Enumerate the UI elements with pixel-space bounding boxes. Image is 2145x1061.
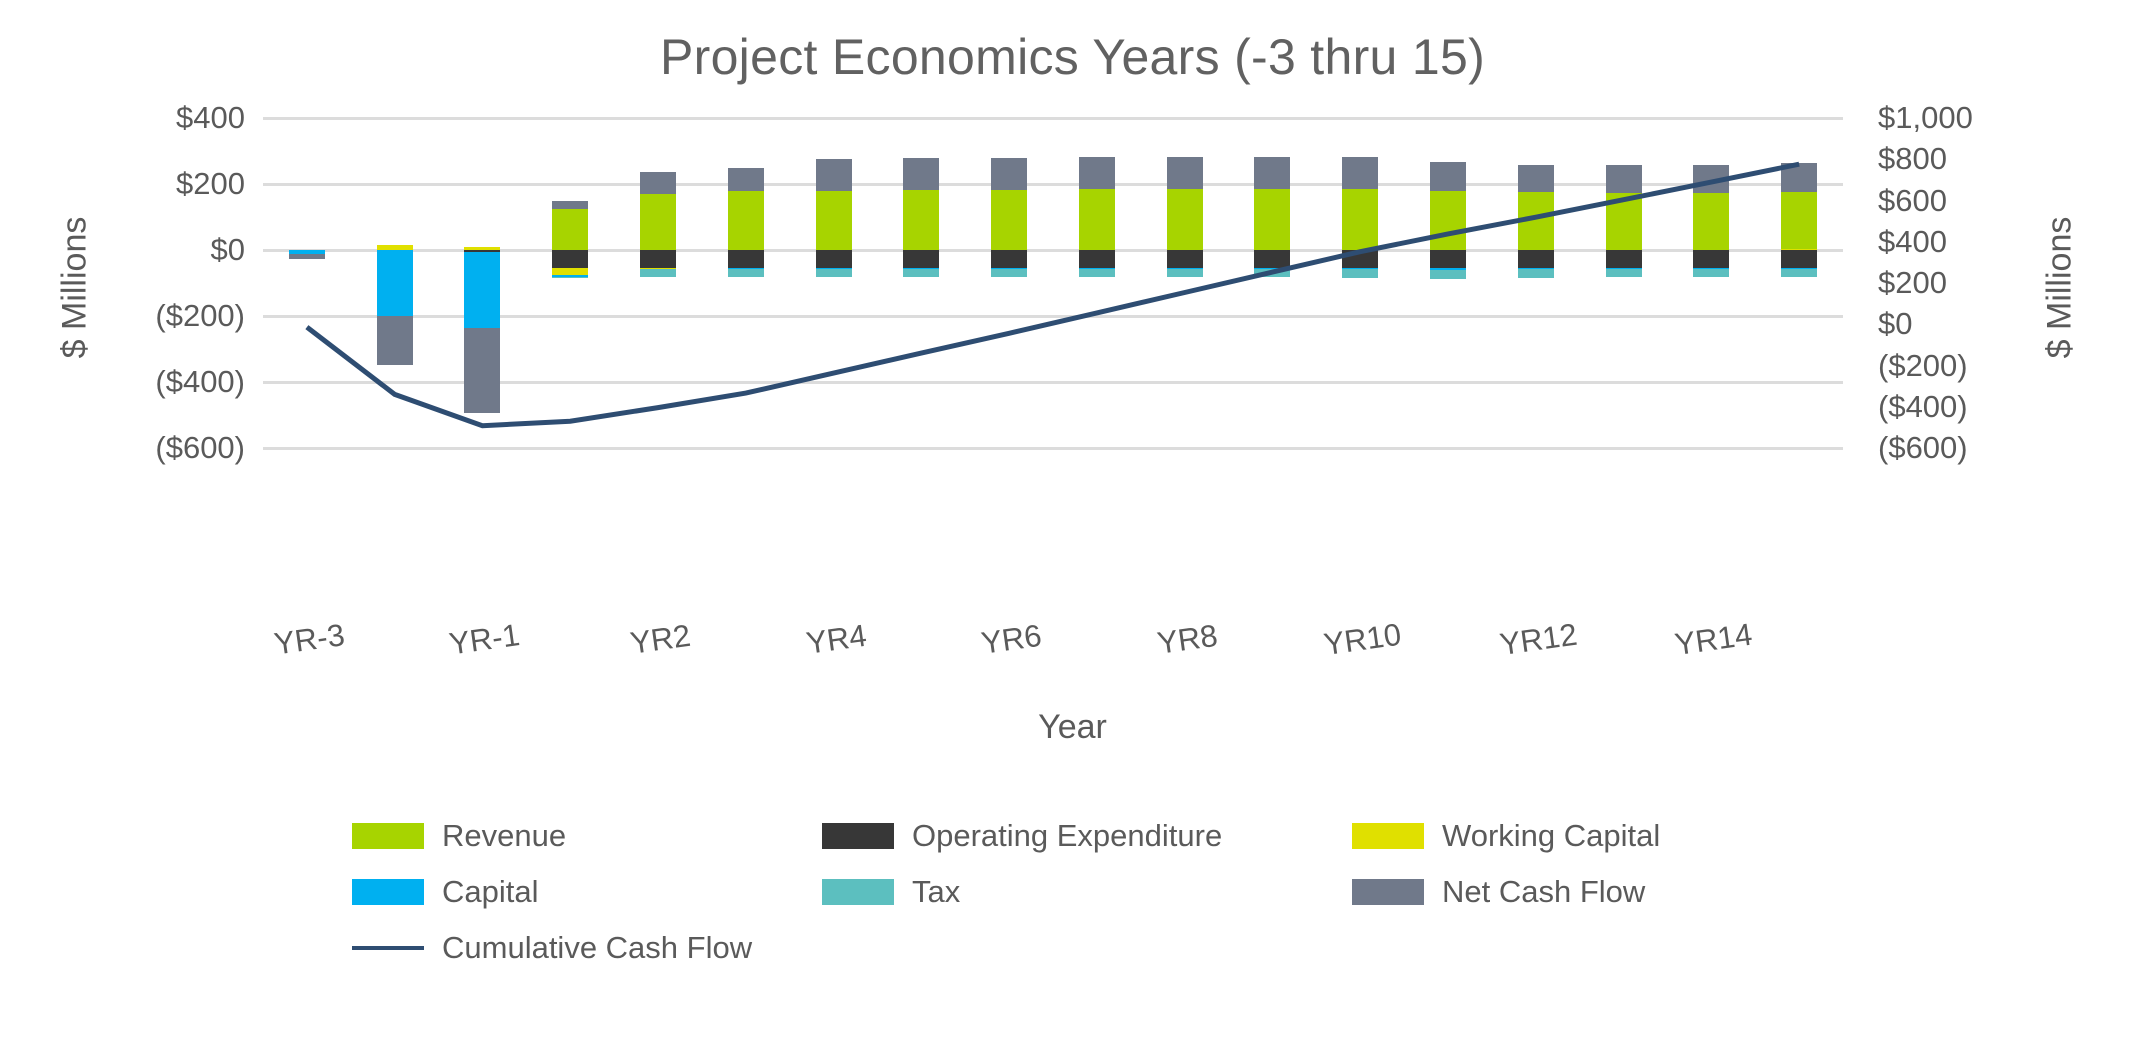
y-axis-right-tick-label: $200 xyxy=(1878,267,1947,298)
legend-label: Cumulative Cash Flow xyxy=(442,932,752,963)
legend-item[interactable]: Capital xyxy=(352,876,539,907)
legend-item[interactable]: Cumulative Cash Flow xyxy=(352,932,752,963)
legend-label: Working Capital xyxy=(1442,820,1660,851)
y-axis-right-tick-label: $0 xyxy=(1878,308,1912,339)
y-axis-left-tick-label: ($200) xyxy=(155,300,245,331)
y-axis-right-tick-label: $800 xyxy=(1878,143,1947,174)
x-axis-tick-label: YR14 xyxy=(1666,616,1762,664)
x-axis-tick-label: YR8 xyxy=(1139,616,1235,664)
legend-label: Tax xyxy=(912,876,960,907)
chart-container: Project Economics Years (-3 thru 15) $ M… xyxy=(0,0,2145,1061)
y-axis-right-tick-label: $1,000 xyxy=(1878,102,1973,133)
legend-item[interactable]: Revenue xyxy=(352,820,566,851)
x-axis-tick-label: YR2 xyxy=(612,616,708,664)
x-axis-tick-label: YR12 xyxy=(1490,616,1586,664)
legend-swatch-working-capital xyxy=(1352,823,1424,849)
legend-item[interactable]: Net Cash Flow xyxy=(1352,876,1645,907)
y-axis-right-tick-label: ($400) xyxy=(1878,391,1968,422)
legend-line-cumulative-cash-flow xyxy=(352,935,424,961)
legend-label: Capital xyxy=(442,876,539,907)
y-axis-right-tick-label: ($600) xyxy=(1878,432,1968,463)
y-axis-right-tick-label: $600 xyxy=(1878,185,1947,216)
y-axis-left-tick-label: $200 xyxy=(176,168,245,199)
x-axis-tick-label: YR4 xyxy=(788,616,884,664)
y-axis-left-tick-label: $400 xyxy=(176,102,245,133)
x-axis-tick-label: YR10 xyxy=(1315,616,1411,664)
x-axis-title: Year xyxy=(0,708,2145,747)
legend-swatch-net-cash-flow xyxy=(1352,879,1424,905)
chart-title: Project Economics Years (-3 thru 15) xyxy=(0,28,2145,86)
legend-item[interactable]: Operating Expenditure xyxy=(822,820,1222,851)
x-axis-tick-label: YR-3 xyxy=(261,616,357,664)
chart-legend: RevenueOperating ExpenditureWorking Capi… xyxy=(352,820,1672,988)
y-axis-title-right: $ Millions xyxy=(2041,173,2080,403)
y-axis-right-tick-label: ($200) xyxy=(1878,350,1968,381)
cumulative-cash-flow-line xyxy=(263,118,1843,448)
y-axis-title-left: $ Millions xyxy=(56,173,95,403)
x-axis-tick-label: YR6 xyxy=(964,616,1060,664)
y-axis-right-tick-label: $400 xyxy=(1878,226,1947,257)
cumulative-cash-flow-polyline xyxy=(307,164,1799,426)
legend-row: RevenueOperating ExpenditureWorking Capi… xyxy=(352,820,1672,876)
legend-label: Net Cash Flow xyxy=(1442,876,1645,907)
legend-swatch-revenue xyxy=(352,823,424,849)
legend-item[interactable]: Tax xyxy=(822,876,960,907)
legend-swatch-capital xyxy=(352,879,424,905)
x-axis-tick-label: YR-1 xyxy=(437,616,533,664)
legend-row: Cumulative Cash Flow xyxy=(352,932,1672,988)
legend-label: Operating Expenditure xyxy=(912,820,1222,851)
legend-label: Revenue xyxy=(442,820,566,851)
legend-swatch-operating-expenditure xyxy=(822,823,894,849)
legend-row: CapitalTaxNet Cash Flow xyxy=(352,876,1672,932)
y-axis-left-tick-label: ($400) xyxy=(155,366,245,397)
y-axis-left-tick-label: $0 xyxy=(211,234,245,265)
legend-swatch-tax xyxy=(822,879,894,905)
y-axis-left-tick-label: ($600) xyxy=(155,432,245,463)
legend-item[interactable]: Working Capital xyxy=(1352,820,1660,851)
